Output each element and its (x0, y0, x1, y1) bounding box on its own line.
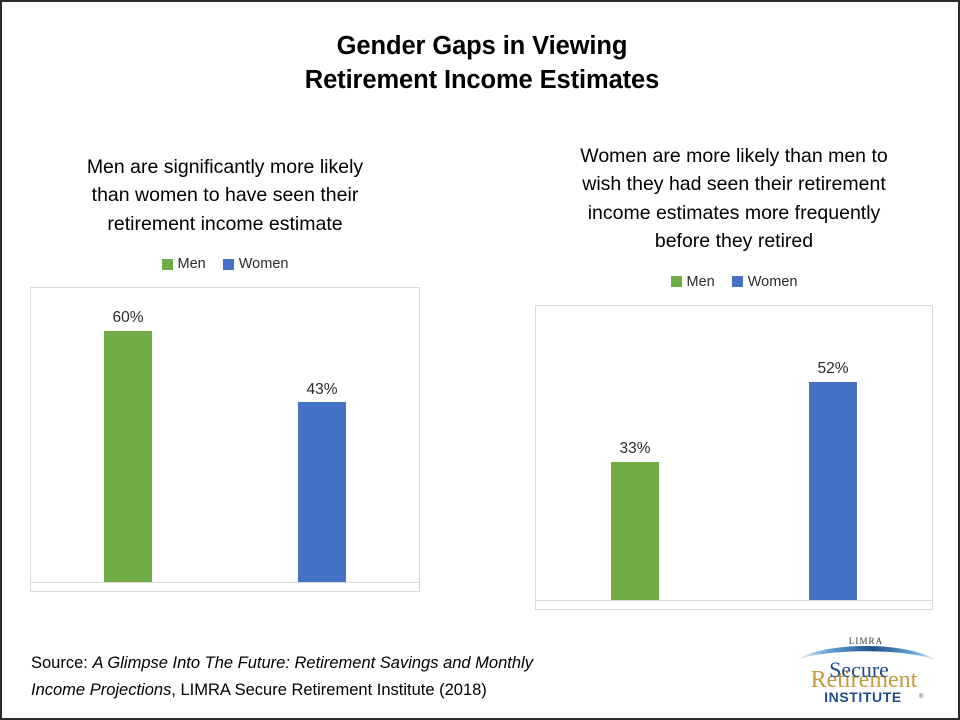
chart-panel-left: Men are significantly more likely than w… (30, 142, 420, 592)
source-suffix: , LIMRA Secure Retirement Institute (201… (171, 681, 486, 699)
plot-area-right: 33% 52% (535, 305, 933, 610)
bar-women[interactable] (298, 402, 346, 583)
bar-men[interactable] (611, 462, 659, 601)
legend-label-men: Men (178, 257, 206, 272)
legend-item-men: Men (671, 275, 715, 290)
title-line-1: Gender Gaps in Viewing (2, 30, 960, 64)
chart-subtitle-right: Women are more likely than men to wish t… (535, 142, 933, 256)
legend-label-men: Men (687, 275, 715, 290)
svg-text:LIMRA: LIMRA (849, 636, 884, 646)
legend-item-women: Women (732, 275, 798, 290)
legend-swatch-men-icon (671, 276, 682, 287)
bar-group-left: 60% 43% (31, 288, 419, 583)
slide: Gender Gaps in Viewing Retirement Income… (0, 0, 960, 720)
subtitle-line-4: before they retired (535, 227, 933, 255)
bar-men[interactable] (104, 331, 152, 584)
svg-text:INSTITUTE: INSTITUTE (824, 689, 902, 705)
x-axis-line (31, 582, 419, 583)
bar-slot-men: 60% (64, 288, 192, 583)
bar-value-men: 60% (112, 310, 143, 326)
chart-legend-right: Men Women (535, 273, 933, 291)
title-line-2: Retirement Income Estimates (2, 64, 960, 98)
chart-subtitle-left: Men are significantly more likely than w… (30, 142, 420, 238)
limra-sri-logo: LIMRA Retirement Secure INSTITUTE ® (791, 630, 941, 708)
bar-group-right: 33% 52% (536, 306, 932, 601)
page-title: Gender Gaps in Viewing Retirement Income… (2, 30, 960, 97)
chart-legend-left: Men Women (30, 255, 420, 273)
bar-slot-women: 52% (768, 306, 899, 601)
bar-women[interactable] (809, 382, 857, 601)
bar-value-women: 52% (817, 361, 848, 377)
subtitle-line-1: Men are significantly more likely (30, 153, 420, 181)
legend-swatch-men-icon (162, 259, 173, 270)
legend-swatch-women-icon (223, 259, 234, 270)
bar-value-men: 33% (619, 441, 650, 457)
x-axis-line (536, 600, 932, 601)
chart-panel-right: Women are more likely than men to wish t… (535, 142, 933, 610)
subtitle-line-2: wish they had seen their retirement (535, 170, 933, 198)
svg-text:Secure: Secure (829, 657, 889, 682)
subtitle-line-3: income estimates more frequently (535, 199, 933, 227)
source-citation: Source: A Glimpse Into The Future: Retir… (31, 650, 571, 703)
bar-slot-women: 43% (258, 288, 386, 583)
legend-label-women: Women (748, 275, 798, 290)
source-prefix: Source: (31, 654, 92, 672)
subtitle-line-2: than women to have seen their (30, 181, 420, 209)
subtitle-line-1: Women are more likely than men to (535, 142, 933, 170)
plot-area-left: 60% 43% (30, 287, 420, 592)
legend-swatch-women-icon (732, 276, 743, 287)
bar-slot-men: 33% (570, 306, 701, 601)
legend-item-men: Men (162, 257, 206, 272)
legend-label-women: Women (239, 257, 289, 272)
svg-text:®: ® (919, 693, 924, 700)
legend-item-women: Women (223, 257, 289, 272)
bar-value-women: 43% (306, 382, 337, 398)
subtitle-line-3: retirement income estimate (30, 210, 420, 238)
